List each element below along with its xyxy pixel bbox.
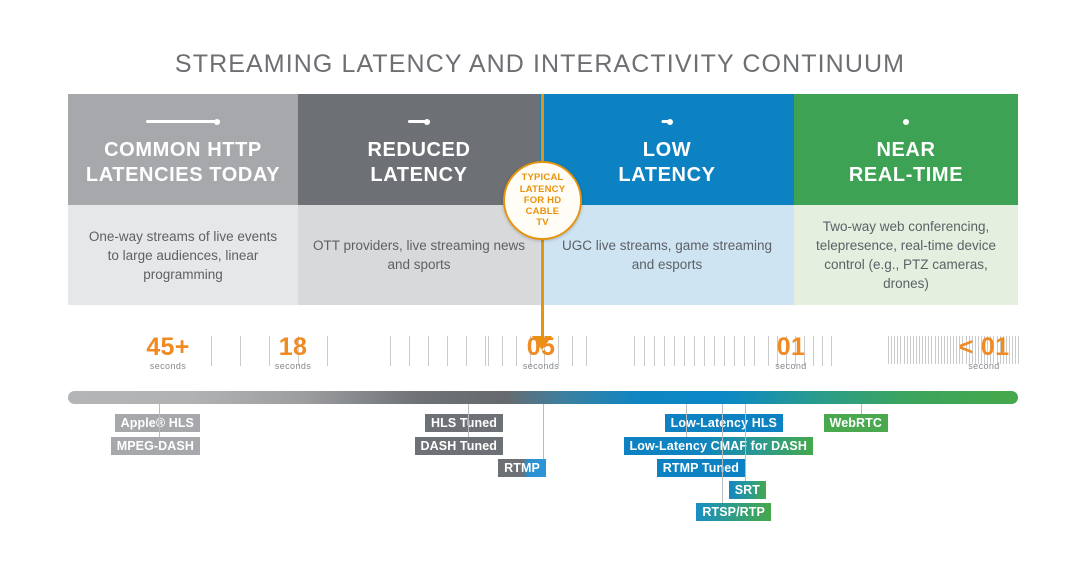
badge-line-4: CABLE [526,206,560,217]
ruler-tick [674,336,675,366]
description-text: One-way streams of live events to large … [68,227,298,284]
ruler-unit: second [936,361,1032,372]
ruler-tick [447,336,448,366]
category-header-near-real-time: NEAR REAL-TIME [794,94,1018,205]
ruler-label-sub-01s: < 01 second [936,334,1032,372]
page-title: STREAMING LATENCY AND INTERACTIVITY CONT… [0,50,1080,79]
infographic-root: STREAMING LATENCY AND INTERACTIVITY CONT… [0,0,1080,561]
typical-latency-badge: TYPICAL LATENCY FOR HD CABLE TV [503,161,582,240]
heading-line-2: LATENCY [370,164,467,186]
ruler-tick [466,336,467,366]
heading-line-1: LOW [643,139,691,161]
ruler-tick [694,336,695,366]
ruler-tick [734,336,735,366]
ruler-tick [891,336,892,364]
protocol-pill: RTMP Tuned [657,459,745,477]
category-header-label: NEAR REAL-TIME [794,138,1018,188]
ruler-tick [922,336,923,364]
ruler-tick [907,336,908,364]
ruler-tick [586,336,587,366]
description-text: UGC live streams, game streaming and esp… [540,236,794,274]
description-low-latency: UGC live streams, game streaming and esp… [540,205,794,305]
ruler-tick [211,336,212,366]
ruler-tick [925,336,926,364]
ruler-tick [409,336,410,366]
ruler-tick [704,336,705,366]
category-header-label: REDUCED LATENCY [298,138,540,188]
ruler-tick [900,336,901,364]
typical-latency-badge-text: TYPICAL LATENCY FOR HD CABLE TV [520,172,566,228]
heading-line-2: LATENCY [618,164,715,186]
badge-line-1: TYPICAL [521,172,563,183]
description-text: Two-way web conferencing, telepresence, … [794,217,1018,293]
protocol-pill: Low-Latency CMAF for DASH [624,437,814,455]
ruler-tick [390,336,391,366]
heading-line-1: NEAR [876,139,935,161]
ruler-value: 18 [255,334,331,360]
ruler-value: 45+ [130,334,206,360]
ruler-tick [488,336,489,366]
ruler-tick [831,336,832,366]
ruler-tick [664,336,665,366]
ruler-tick [724,336,725,366]
protocol-pill: HLS Tuned [425,414,503,432]
latency-bar-long-icon [68,116,298,126]
protocol-pill: Apple® HLS [115,414,200,432]
ruler-label-45s: 45+ seconds [130,334,206,372]
ruler-tick [931,336,932,364]
ruler-tick [428,336,429,366]
ruler-value: < 01 [936,334,1032,360]
category-header-label: LOW LATENCY [540,138,794,188]
badge-line-5: TV [536,217,549,228]
ruler-tick [910,336,911,364]
ruler-label-01s: 01 second [753,334,829,372]
description-reduced-latency: OTT providers, live streaming news and s… [298,205,540,305]
ruler-tick [634,336,635,366]
badge-line-3: FOR HD [524,195,562,206]
ruler-tick [897,336,898,364]
description-text: OTT providers, live streaming news and s… [298,236,540,274]
ruler-unit: seconds [503,361,579,372]
ruler-tick [913,336,914,364]
ruler-tick [714,336,715,366]
ruler-tick [644,336,645,366]
heading-line-2: REAL-TIME [849,164,963,186]
latency-bar-medium-icon [298,116,540,126]
ruler-unit: second [753,361,829,372]
ruler-tick [919,336,920,364]
ruler-tick [888,336,889,364]
badge-line-2: LATENCY [520,184,566,195]
ruler-tick [928,336,929,364]
latency-ruler: 45+ seconds 18 seconds 05 seconds 01 sec… [68,332,1018,384]
protocol-pill: Low-Latency HLS [665,414,783,432]
ruler-value: 01 [753,334,829,360]
ruler-label-18s: 18 seconds [255,334,331,372]
category-header-label: COMMON HTTP LATENCIES TODAY [68,138,298,188]
ruler-tick [485,336,486,366]
ruler-tick [904,336,905,364]
protocol-pill: DASH Tuned [415,437,503,455]
ruler-label-05s: 05 seconds [503,334,579,372]
heading-line-2: LATENCIES TODAY [86,164,280,186]
ruler-unit: seconds [130,361,206,372]
protocol-pill: RTMP [498,459,546,477]
protocol-pill: SRT [729,481,766,499]
ruler-tick [894,336,895,364]
heading-line-1: REDUCED [367,139,470,161]
ruler-tick [654,336,655,366]
protocol-pill: RTSP/RTP [696,503,771,521]
latency-dot-icon [794,116,1018,126]
ruler-unit: seconds [255,361,331,372]
ruler-tick [684,336,685,366]
ruler-tick [744,336,745,366]
description-near-real-time: Two-way web conferencing, telepresence, … [794,205,1018,305]
latency-gradient-bar [68,391,1018,404]
protocol-pill: MPEG-DASH [111,437,200,455]
description-common-http: One-way streams of live events to large … [68,205,298,305]
heading-line-1: COMMON HTTP [104,139,262,161]
protocol-pill: WebRTC [824,414,888,432]
ruler-tick [916,336,917,364]
category-header-common-http: COMMON HTTP LATENCIES TODAY [68,94,298,205]
latency-bar-short-icon [540,116,794,126]
ruler-value: 05 [503,334,579,360]
ruler-tick [240,336,241,366]
